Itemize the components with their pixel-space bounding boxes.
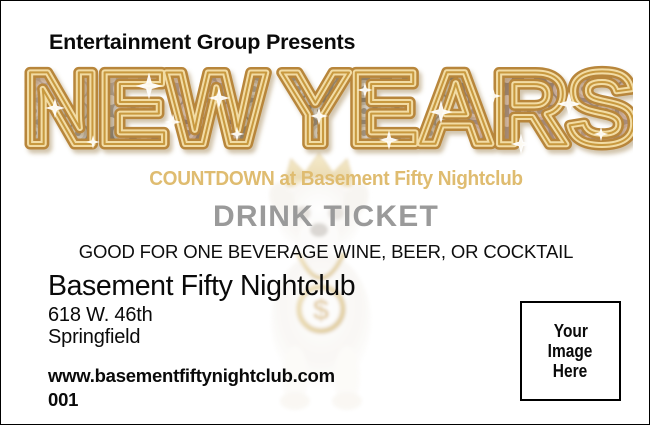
svg-text:NEW: NEW [23,56,267,166]
event-subtitle: COUNTDOWN at Basement Fifty Nightclub [71,167,601,191]
venue-name: Basement Fifty Nightclub [48,270,355,303]
image-placeholder-box[interactable]: Your Image Here [520,301,621,401]
drink-ticket: $ Entertainment Group Presents [0,0,650,425]
website-url[interactable]: www.basementfiftynightclub.com [48,365,335,387]
new-years-headline-art: NEW YEARS NEW YEARS [23,56,633,166]
svg-text:YEARS: YEARS [280,56,633,166]
venue-address-line2: Springfield [48,326,140,349]
venue-address-line1: 618 W. 46th [48,304,153,327]
image-placeholder-line3: Here [553,361,587,381]
ticket-number: 001 [48,389,78,411]
ticket-type-label: DRINK TICKET [1,200,650,234]
image-placeholder-line2: Image [548,341,593,361]
terms-line: GOOD FOR ONE BEVERAGE WINE, BEER, OR COC… [1,241,650,263]
presenter-line: Entertainment Group Presents [49,30,355,55]
image-placeholder-line1: Your [553,321,587,341]
